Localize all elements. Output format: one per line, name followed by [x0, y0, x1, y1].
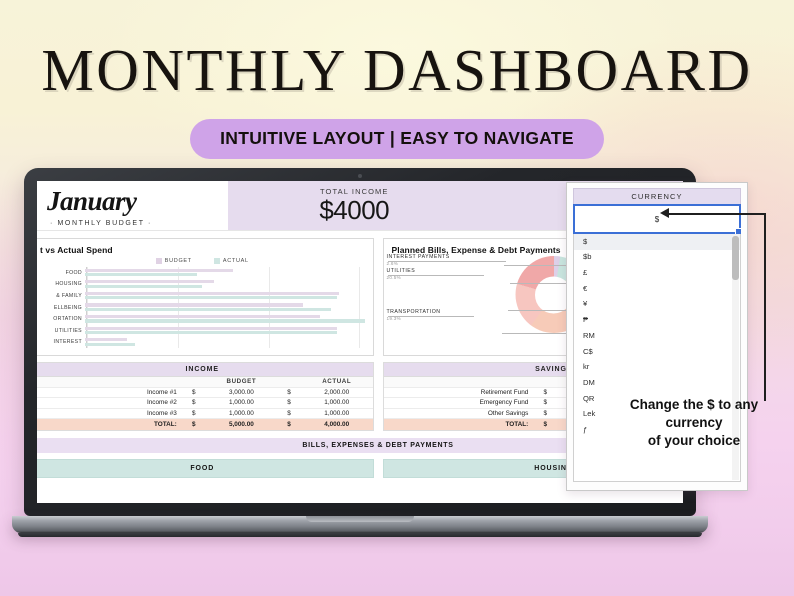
bar-budget [85, 292, 339, 295]
dropdown-scrollbar-thumb[interactable] [732, 236, 739, 280]
bar-budget [85, 280, 214, 283]
page-title: MONTHLY DASHBOARD [0, 41, 794, 100]
income-table-header: INCOME [37, 363, 373, 377]
bar-category-label: FOOD [40, 270, 85, 276]
callout-arrow-line-vertical [764, 213, 766, 401]
currency-option[interactable]: ₱ [574, 313, 740, 329]
donut-label-text: TRANSPORTATION [387, 309, 441, 315]
currency-select-input[interactable]: $ [573, 204, 741, 234]
bar-actual [85, 319, 365, 322]
currency-symbol: $ [533, 389, 557, 396]
bar-actual [85, 343, 135, 346]
bar-row: HOUSING [40, 279, 365, 291]
bar-pair [85, 325, 365, 337]
currency-symbol: $ [277, 421, 301, 428]
currency-option[interactable]: C$ [574, 344, 740, 360]
kpi-value: $4000 [228, 196, 481, 224]
bar-row: UTILITIES [40, 325, 365, 337]
currency-symbol: $ [277, 389, 301, 396]
bar-budget [85, 338, 127, 341]
callout-arrow-line-horizontal [668, 213, 766, 215]
legend-actual: ACTUAL [214, 258, 249, 264]
total-budget: 5,000.00 [206, 421, 278, 428]
bar-pair [85, 290, 365, 302]
income-table: INCOME BUDGET ACTUAL Income #1 $ 3,000.0… [37, 362, 374, 431]
row-label: TOTAL: [384, 421, 534, 428]
bar-pair [85, 267, 365, 279]
bar-category-label: ELLBEING [40, 305, 85, 311]
bar-row: ELLBEING [40, 302, 365, 314]
currency-selected-value: $ [655, 215, 659, 224]
bar-actual [85, 296, 337, 299]
currency-symbol: $ [533, 410, 557, 417]
callout-line-1: Change the $ to any currency [600, 396, 788, 432]
legend-label: BUDGET [165, 258, 192, 264]
row-budget: 3,000.00 [206, 389, 278, 396]
bar-pair [85, 302, 365, 314]
legend-label: ACTUAL [223, 258, 249, 264]
category-food: FOOD [37, 459, 374, 478]
currency-symbol: $ [277, 410, 301, 417]
callout-line-2: of your choice [600, 432, 788, 450]
laptop-foot [18, 533, 702, 537]
currency-option[interactable]: DM [574, 375, 740, 391]
bar-row: FOOD [40, 267, 365, 279]
bar-actual [85, 331, 337, 334]
currency-option[interactable]: ¥ [574, 297, 740, 313]
row-label: Income #3 [37, 410, 182, 417]
bar-pair [85, 279, 365, 291]
bar-budget [85, 315, 320, 318]
currency-option[interactable]: € [574, 281, 740, 297]
row-label: Income #1 [37, 389, 182, 396]
currency-option[interactable]: kr [574, 360, 740, 376]
donut-label-transportation: TRANSPORTATION 19.3% [387, 309, 441, 321]
col-budget: BUDGET [206, 378, 278, 385]
currency-symbol: $ [277, 399, 301, 406]
chart-legend: BUDGET ACTUAL [40, 258, 365, 264]
income-column-headers: BUDGET ACTUAL [37, 377, 373, 388]
bar-actual [85, 285, 202, 288]
currency-symbol: $ [533, 421, 557, 428]
bar-pair [85, 313, 365, 325]
col-actual: ACTUAL [301, 378, 373, 385]
bar-category-label: INTEREST [40, 339, 85, 345]
legend-budget: BUDGET [156, 258, 192, 264]
chart-title: t vs Actual Spend [40, 245, 365, 255]
bar-budget [85, 269, 233, 272]
bar-actual [85, 273, 197, 276]
donut-label-text: INTEREST PAYMENTS [387, 254, 450, 260]
row-label: Other Savings [384, 410, 534, 417]
month-block: January · MONTHLY BUDGET · [37, 181, 228, 230]
month-title: January [47, 186, 228, 217]
bar-category-label: & FAMILY [40, 293, 85, 299]
bar-row: INTEREST [40, 337, 365, 349]
tagline-badge: INTUITIVE LAYOUT | EASY TO NAVIGATE [190, 119, 604, 159]
currency-option[interactable]: £ [574, 265, 740, 281]
row-label: TOTAL: [37, 421, 182, 428]
bar-budget [85, 303, 303, 306]
donut-label-pct: 2.6% [387, 261, 450, 266]
kpi-total-income: TOTAL INCOME $4000 [228, 181, 481, 230]
laptop-base [12, 516, 708, 533]
total-actual: 4,000.00 [301, 421, 373, 428]
bar-category-label: ORTATION [40, 316, 85, 322]
bar-category-label: UTILITIES [40, 328, 85, 334]
bar-row: ORTATION [40, 313, 365, 325]
currency-symbol: $ [182, 389, 206, 396]
donut-label-pct: 19.3% [387, 316, 441, 321]
row-label: Retirement Fund [384, 389, 534, 396]
currency-symbol: $ [182, 421, 206, 428]
month-subtitle: · MONTHLY BUDGET · [50, 220, 228, 227]
currency-option[interactable]: $b [574, 250, 740, 266]
hero-badge-container: INTUITIVE LAYOUT | EASY TO NAVIGATE [0, 119, 794, 159]
currency-symbol: $ [182, 410, 206, 417]
row-budget: 1,000.00 [206, 410, 278, 417]
currency-option[interactable]: $ [574, 234, 740, 250]
bar-actual [85, 308, 331, 311]
legend-swatch-icon [156, 258, 162, 264]
donut-label-text: UTILITIES [387, 268, 416, 274]
row-budget: 1,000.00 [206, 399, 278, 406]
donut-label-utilities: UTILITIES 20.5% [387, 268, 416, 280]
hero-header: MONTHLY DASHBOARD INTUITIVE LAYOUT | EAS… [0, 0, 794, 159]
table-row: Income #2 $ 1,000.00 $ 1,000.00 [37, 398, 373, 409]
currency-symbol: $ [533, 399, 557, 406]
bar-pair [85, 337, 365, 349]
income-total-row: TOTAL: $ 5,000.00 $ 4,000.00 [37, 419, 373, 430]
budget-vs-actual-chart-panel: t vs Actual Spend BUDGET ACTUAL FOODHOUS… [37, 238, 374, 356]
row-label: Income #2 [37, 399, 182, 406]
bar-row: & FAMILY [40, 290, 365, 302]
currency-symbol: $ [182, 399, 206, 406]
table-row: Income #1 $ 3,000.00 $ 2,000.00 [37, 388, 373, 399]
currency-card-header: CURRENCY [573, 188, 741, 204]
webcam-icon [358, 174, 362, 178]
bar-category-label: HOUSING [40, 281, 85, 287]
donut-label-pct: 20.5% [387, 275, 416, 280]
table-row: Income #3 $ 1,000.00 $ 1,000.00 [37, 409, 373, 420]
currency-callout-text: Change the $ to any currency of your cho… [600, 396, 788, 449]
donut-label-interest: INTEREST PAYMENTS 2.6% [387, 254, 450, 266]
currency-option[interactable]: RM [574, 328, 740, 344]
legend-swatch-icon [214, 258, 220, 264]
row-actual: 1,000.00 [301, 399, 373, 406]
row-actual: 2,000.00 [301, 389, 373, 396]
bar-budget [85, 327, 337, 330]
row-actual: 1,000.00 [301, 410, 373, 417]
bar-chart-plot: FOODHOUSING& FAMILYELLBEINGORTATIONUTILI… [40, 267, 365, 348]
row-label: Emergency Fund [384, 399, 534, 406]
